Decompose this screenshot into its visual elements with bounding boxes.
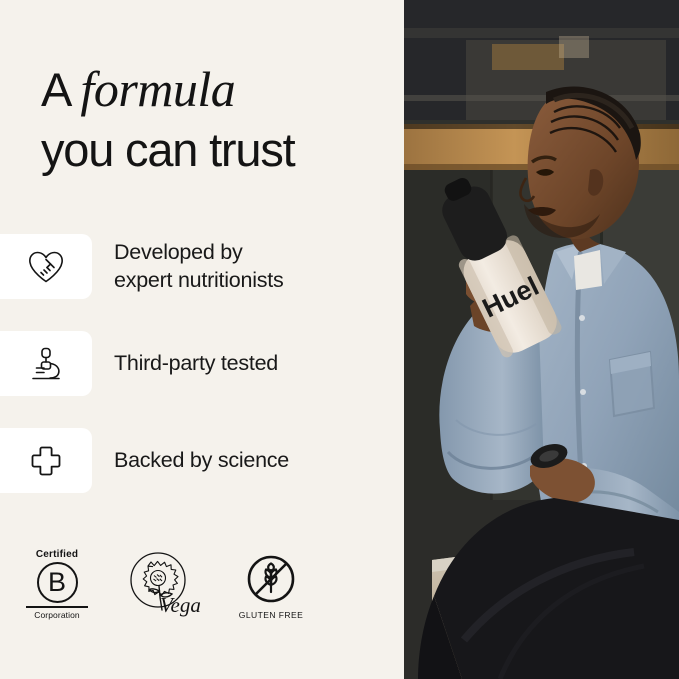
headline-italic-text: formula — [80, 61, 235, 117]
heart-handshake-icon — [27, 249, 65, 285]
b-corp-mark: B — [37, 562, 78, 603]
lifestyle-photo: Huel — [404, 0, 679, 679]
headline-line-2: you can trust — [41, 125, 391, 175]
feature-row-backed-by-science: Backed by science — [0, 428, 404, 493]
microscope-icon — [29, 346, 63, 382]
vegan-wordmark: Vegan — [160, 593, 200, 617]
feature-label-line-1: Developed by — [114, 240, 242, 264]
medical-cross-icon — [29, 444, 63, 478]
gluten-free-badge: GLUTEN FREE — [234, 553, 308, 620]
page-title: A formula you can trust — [41, 63, 391, 175]
vegan-badge: Vegan — [124, 548, 200, 620]
gluten-free-icon — [245, 553, 297, 605]
feature-list: Developed by expert nutritionists — [0, 234, 404, 525]
b-corp-badge: Certified B Corporation — [24, 549, 90, 620]
feature-label: Third-party tested — [114, 350, 278, 378]
promo-panel: A formula you can trust — [0, 0, 679, 679]
feature-label-line-2: expert nutritionists — [114, 268, 283, 292]
certification-badges: Certified B Corporation — [24, 548, 308, 620]
content-panel: A formula you can trust — [0, 0, 404, 679]
feature-label: Backed by science — [114, 447, 289, 475]
feature-row-expert-nutritionists: Developed by expert nutritionists — [0, 234, 404, 299]
feature-label-line-1: Backed by science — [114, 448, 289, 472]
feature-label-line-1: Third-party tested — [114, 351, 278, 375]
b-corp-top-text: Certified — [36, 549, 78, 560]
headline-plain-text: A — [41, 63, 80, 116]
vegan-sunflower-icon: Vegan — [124, 548, 200, 620]
icon-card — [0, 428, 92, 493]
feature-label: Developed by expert nutritionists — [114, 239, 283, 294]
b-corp-rule — [26, 606, 88, 608]
feature-row-third-party-tested: Third-party tested — [0, 331, 404, 396]
icon-card — [0, 234, 92, 299]
b-corp-bottom-text: Corporation — [34, 610, 80, 620]
photo-illustration: Huel — [404, 0, 679, 679]
gluten-free-caption: GLUTEN FREE — [239, 610, 303, 620]
headline-line-1: A formula — [41, 63, 391, 116]
icon-card — [0, 331, 92, 396]
